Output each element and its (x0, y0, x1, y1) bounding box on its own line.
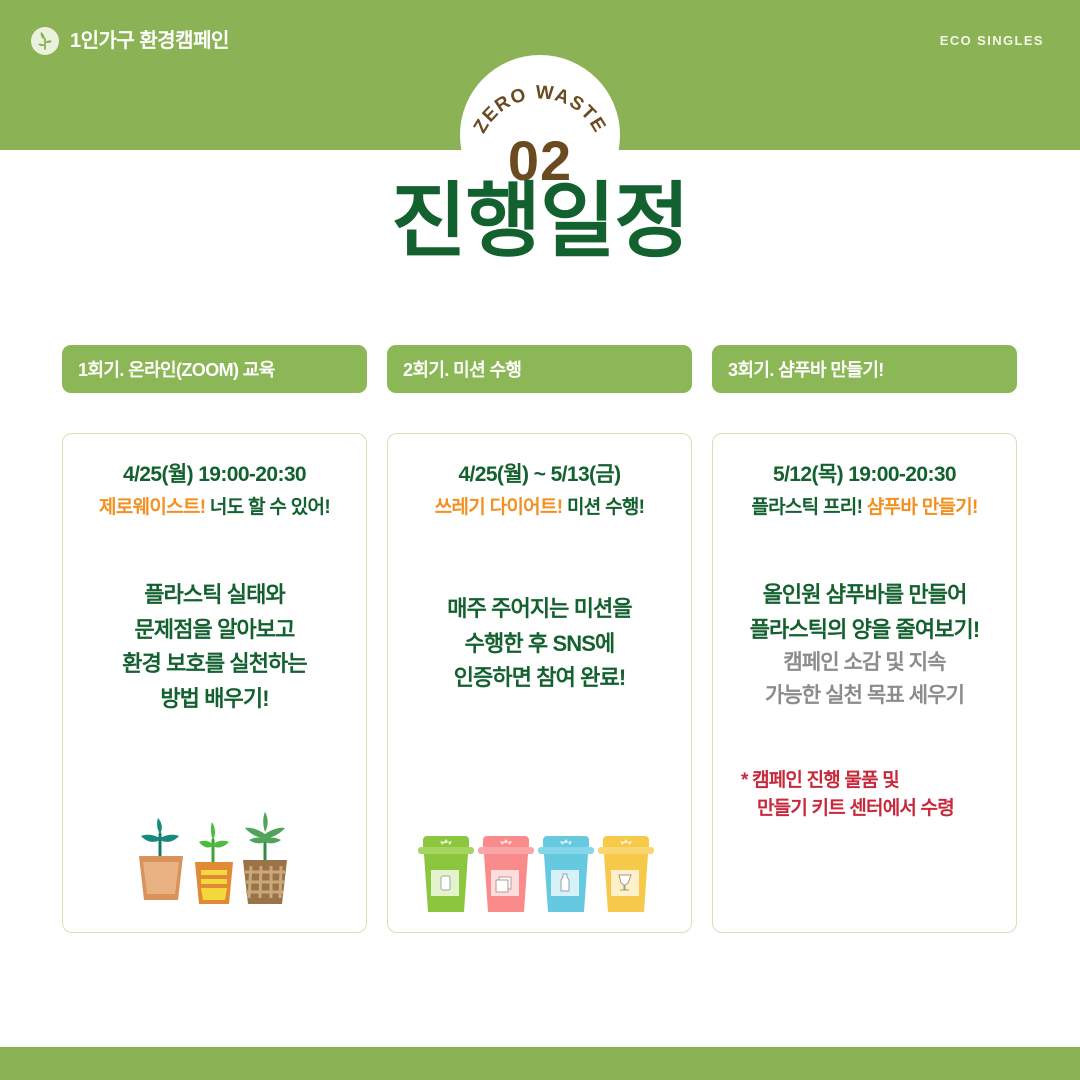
brand-name: 1인가구 환경캠페인 (70, 26, 229, 56)
card-body-line: 방법 배우기! (122, 682, 307, 717)
card-note-line-1: * 캠페인 진행 물품 및 (741, 767, 1002, 796)
card-subtitle-highlight-3: 샴푸바 만들기! (867, 497, 978, 518)
card-date-2: 4/25(월) ~ 5/13(금) (458, 460, 620, 490)
card-body-line: 수행한 후 SNS에 (447, 627, 632, 662)
card-body-line: 인증하면 참여 완료! (447, 661, 632, 696)
card-subtitle-rest-1: 너도 할 수 있어! (205, 497, 330, 518)
card-note-line-2: 만들기 키트 센터에서 수령 (741, 795, 1002, 824)
card-body-1: 플라스틱 실태와 문제점을 알아보고 환경 보호를 실천하는 방법 배우기! (122, 578, 307, 717)
page-title: 진행일정 (0, 175, 1080, 269)
schedule-card-2: 4/25(월) ~ 5/13(금) 쓰레기 다이어트! 미션 수행! 매주 주어… (387, 433, 692, 933)
card-body-line: 환경 보호를 실천하는 (122, 647, 307, 682)
card-body-line: 매주 주어지는 미션을 (447, 592, 632, 627)
schedule-card-3: 5/12(목) 19:00-20:30 플라스틱 프리! 샴푸바 만들기! 올인… (712, 433, 1017, 933)
illustration-plants (125, 804, 305, 914)
four-recycling-bins-icon (415, 828, 665, 914)
column-header-2[interactable]: 2회기. 미션 수행 (387, 345, 692, 393)
paper-bin-icon (478, 836, 534, 912)
card-body-gray-3: 캠페인 소감 및 지속 가능한 실천 목표 세우기 (765, 647, 964, 712)
card-subtitle-rest-2: 미션 수행! (562, 497, 644, 518)
schedule-columns: 1회기. 온라인(ZOOM) 교육 4/25(월) 19:00-20:30 제로… (62, 345, 1018, 933)
brand: 1인가구 환경캠페인 (30, 26, 229, 56)
card-body-3: 올인원 샴푸바를 만들어 플라스틱의 양을 줄여보기! (750, 578, 980, 648)
card-body-gray-line: 캠페인 소감 및 지속 (765, 647, 964, 680)
can-bin-icon (418, 836, 474, 912)
glass-bin-icon (598, 836, 654, 912)
eco-singles-label: ECO SINGLES (940, 33, 1044, 48)
card-body-2: 매주 주어지는 미션을 수행한 후 SNS에 인증하면 참여 완료! (447, 592, 632, 696)
column-header-3[interactable]: 3회기. 샴푸바 만들기! (712, 345, 1017, 393)
card-date-3: 5/12(목) 19:00-20:30 (773, 460, 956, 490)
illustration-bins (415, 828, 665, 914)
card-body-line: 문제점을 알아보고 (122, 613, 307, 648)
schedule-card-1: 4/25(월) 19:00-20:30 제로웨이스트! 너도 할 수 있어! 플… (62, 433, 367, 933)
column-header-1[interactable]: 1회기. 온라인(ZOOM) 교육 (62, 345, 367, 393)
schedule-column-2: 2회기. 미션 수행 4/25(월) ~ 5/13(금) 쓰레기 다이어트! 미… (387, 345, 692, 933)
card-subtitle-3: 플라스틱 프리! 샴푸바 만들기! (751, 494, 977, 522)
card-body-gray-line: 가능한 실천 목표 세우기 (765, 680, 964, 713)
three-plant-pots-icon (125, 804, 305, 914)
card-subtitle-highlight-1: 제로웨이스트! (99, 497, 205, 518)
card-body-line: 올인원 샴푸바를 만들어 (750, 578, 980, 613)
schedule-column-1: 1회기. 온라인(ZOOM) 교육 4/25(월) 19:00-20:30 제로… (62, 345, 367, 933)
card-subtitle-2: 쓰레기 다이어트! 미션 수행! (435, 494, 645, 522)
bottom-green-band (0, 1047, 1080, 1080)
card-date-1: 4/25(월) 19:00-20:30 (123, 460, 306, 490)
card-subtitle-highlight-2: 쓰레기 다이어트! (435, 497, 563, 518)
card-note-3: * 캠페인 진행 물품 및 만들기 키트 센터에서 수령 (727, 767, 1002, 824)
card-subtitle-plain-3: 플라스틱 프리! (751, 497, 866, 518)
card-subtitle-1: 제로웨이스트! 너도 할 수 있어! (99, 494, 330, 522)
leaf-sprout-circle-icon (30, 26, 60, 56)
schedule-column-3: 3회기. 샴푸바 만들기! 5/12(목) 19:00-20:30 플라스틱 프… (712, 345, 1017, 933)
card-body-line: 플라스틱 실태와 (122, 578, 307, 613)
plastic-bin-icon (538, 836, 594, 912)
card-body-line: 플라스틱의 양을 줄여보기! (750, 613, 980, 648)
